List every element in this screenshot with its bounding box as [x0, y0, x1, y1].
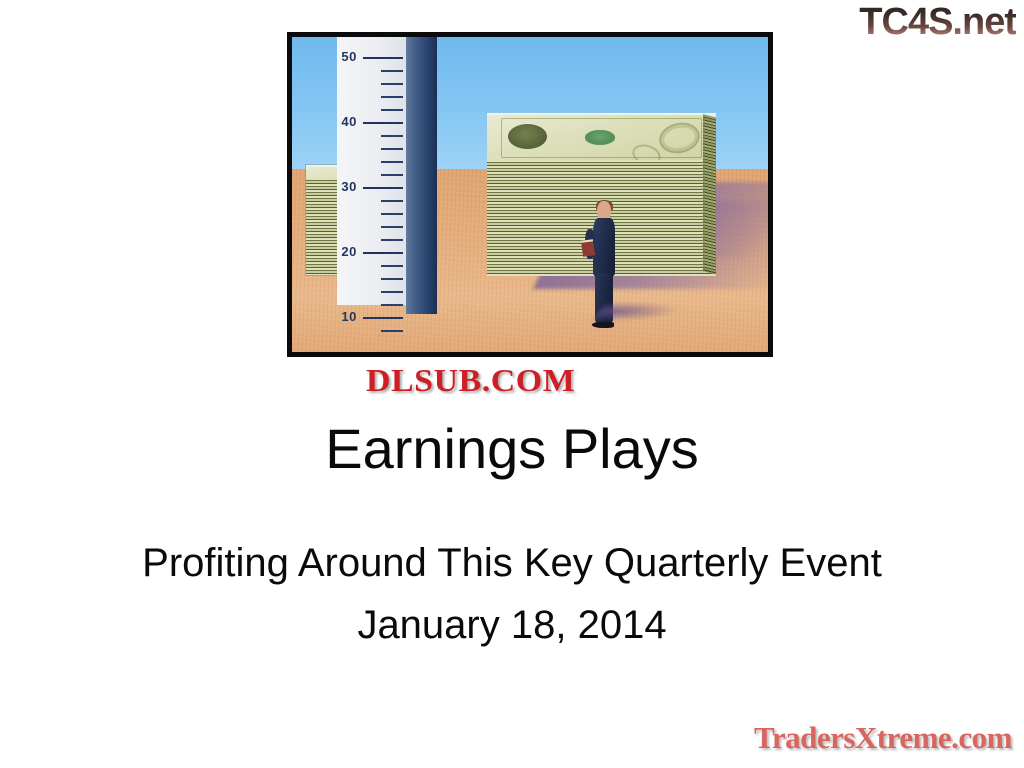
ruler-tick-50: [363, 57, 403, 60]
page-title: Earnings Plays: [0, 418, 1024, 480]
ruler-tick-minor: [381, 226, 404, 228]
dlsub-watermark: DLSUB.COM: [366, 362, 575, 399]
ruler-tick-minor: [381, 213, 404, 215]
page-date: January 18, 2014: [0, 602, 1024, 648]
ruler-tick-minor: [381, 304, 404, 306]
ruler-tick-minor: [381, 109, 404, 111]
ruler-tick-minor: [381, 96, 404, 98]
businessman-shoes: [592, 322, 614, 328]
bill-treasury-seal: [585, 130, 615, 144]
ruler-tick-minor: [381, 83, 404, 85]
ruler-tick-10: [363, 317, 403, 320]
ruler-tick-30: [363, 187, 403, 190]
ruler-tick-minor: [381, 174, 404, 176]
top-dollar-bill: [487, 113, 715, 163]
ruler-label-10: 10: [341, 309, 356, 324]
ruler-tick-minor: [381, 148, 404, 150]
ruler-tick-minor: [381, 291, 404, 293]
ruler-tick-minor: [381, 330, 404, 332]
ruler-tick-40: [363, 122, 403, 125]
ruler-label-30: 30: [341, 179, 356, 194]
ruler-tick-minor: [381, 200, 404, 202]
ruler-tick-minor: [381, 265, 404, 267]
ruler-side-face: [406, 37, 437, 314]
ruler-tick-minor: [381, 239, 404, 241]
measuring-ruler: 50 40 30 20 10: [337, 37, 406, 305]
businessman-shadow: [592, 302, 683, 321]
bill-portrait: [508, 124, 547, 149]
tradersxtreme-watermark: TradersXtreme.com: [754, 720, 1012, 756]
ruler-tick-minor: [381, 278, 404, 280]
ruler-label-20: 20: [341, 244, 356, 259]
ruler-tick-minor: [381, 135, 404, 137]
title-illustration: 50 40 30 20 10: [287, 32, 773, 357]
ruler-label-40: 40: [341, 114, 356, 129]
money-stack-side-face: [703, 114, 716, 277]
ruler-label-50: 50: [341, 49, 356, 64]
businessman-torso: [593, 218, 615, 276]
tc4s-site-logo: TC4S.net: [859, 2, 1016, 42]
ruler-tick-minor: [381, 70, 404, 72]
page-subtitle: Profiting Around This Key Quarterly Even…: [0, 540, 1024, 586]
ruler-tick-20: [363, 252, 403, 255]
ruler-tick-minor: [381, 161, 404, 163]
illustration-canvas: 50 40 30 20 10: [292, 37, 768, 352]
businessman-notebook: [581, 239, 595, 256]
